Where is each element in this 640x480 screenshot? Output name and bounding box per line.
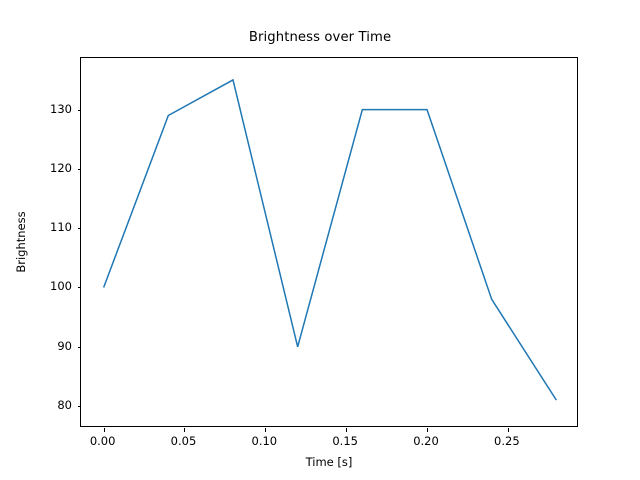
figure-canvas: Brightness over Time Brightness Time [s]… [0,0,640,480]
x-tick-label: 0.25 [494,434,520,448]
x-tick-label: 0.05 [171,434,197,448]
x-axis-label: Time [s] [80,455,578,469]
chart-title: Brightness over Time [0,30,640,45]
y-tick-label: 90 [0,339,72,353]
y-tick-mark [78,228,82,229]
y-tick-mark [78,169,82,170]
y-tick-label: 120 [0,161,72,175]
y-tick-mark [78,406,82,407]
y-tick-label: 100 [0,279,72,293]
x-tick-label: 0.20 [413,434,439,448]
data-series-line [104,80,557,400]
y-tick-label: 110 [0,220,72,234]
x-tick-label: 0.15 [332,434,358,448]
x-tick-mark [265,428,266,432]
x-tick-mark [104,428,105,432]
x-tick-mark [508,428,509,432]
x-tick-mark [346,428,347,432]
y-tick-mark [78,347,82,348]
x-tick-mark [184,428,185,432]
x-tick-mark [427,428,428,432]
y-tick-label: 80 [0,398,72,412]
x-tick-label: 0.10 [252,434,278,448]
plot-axes [80,57,578,427]
y-tick-mark [78,287,82,288]
y-tick-mark [78,110,82,111]
y-tick-label: 130 [0,102,72,116]
plot-area [81,58,579,428]
x-tick-label: 0.00 [90,434,116,448]
